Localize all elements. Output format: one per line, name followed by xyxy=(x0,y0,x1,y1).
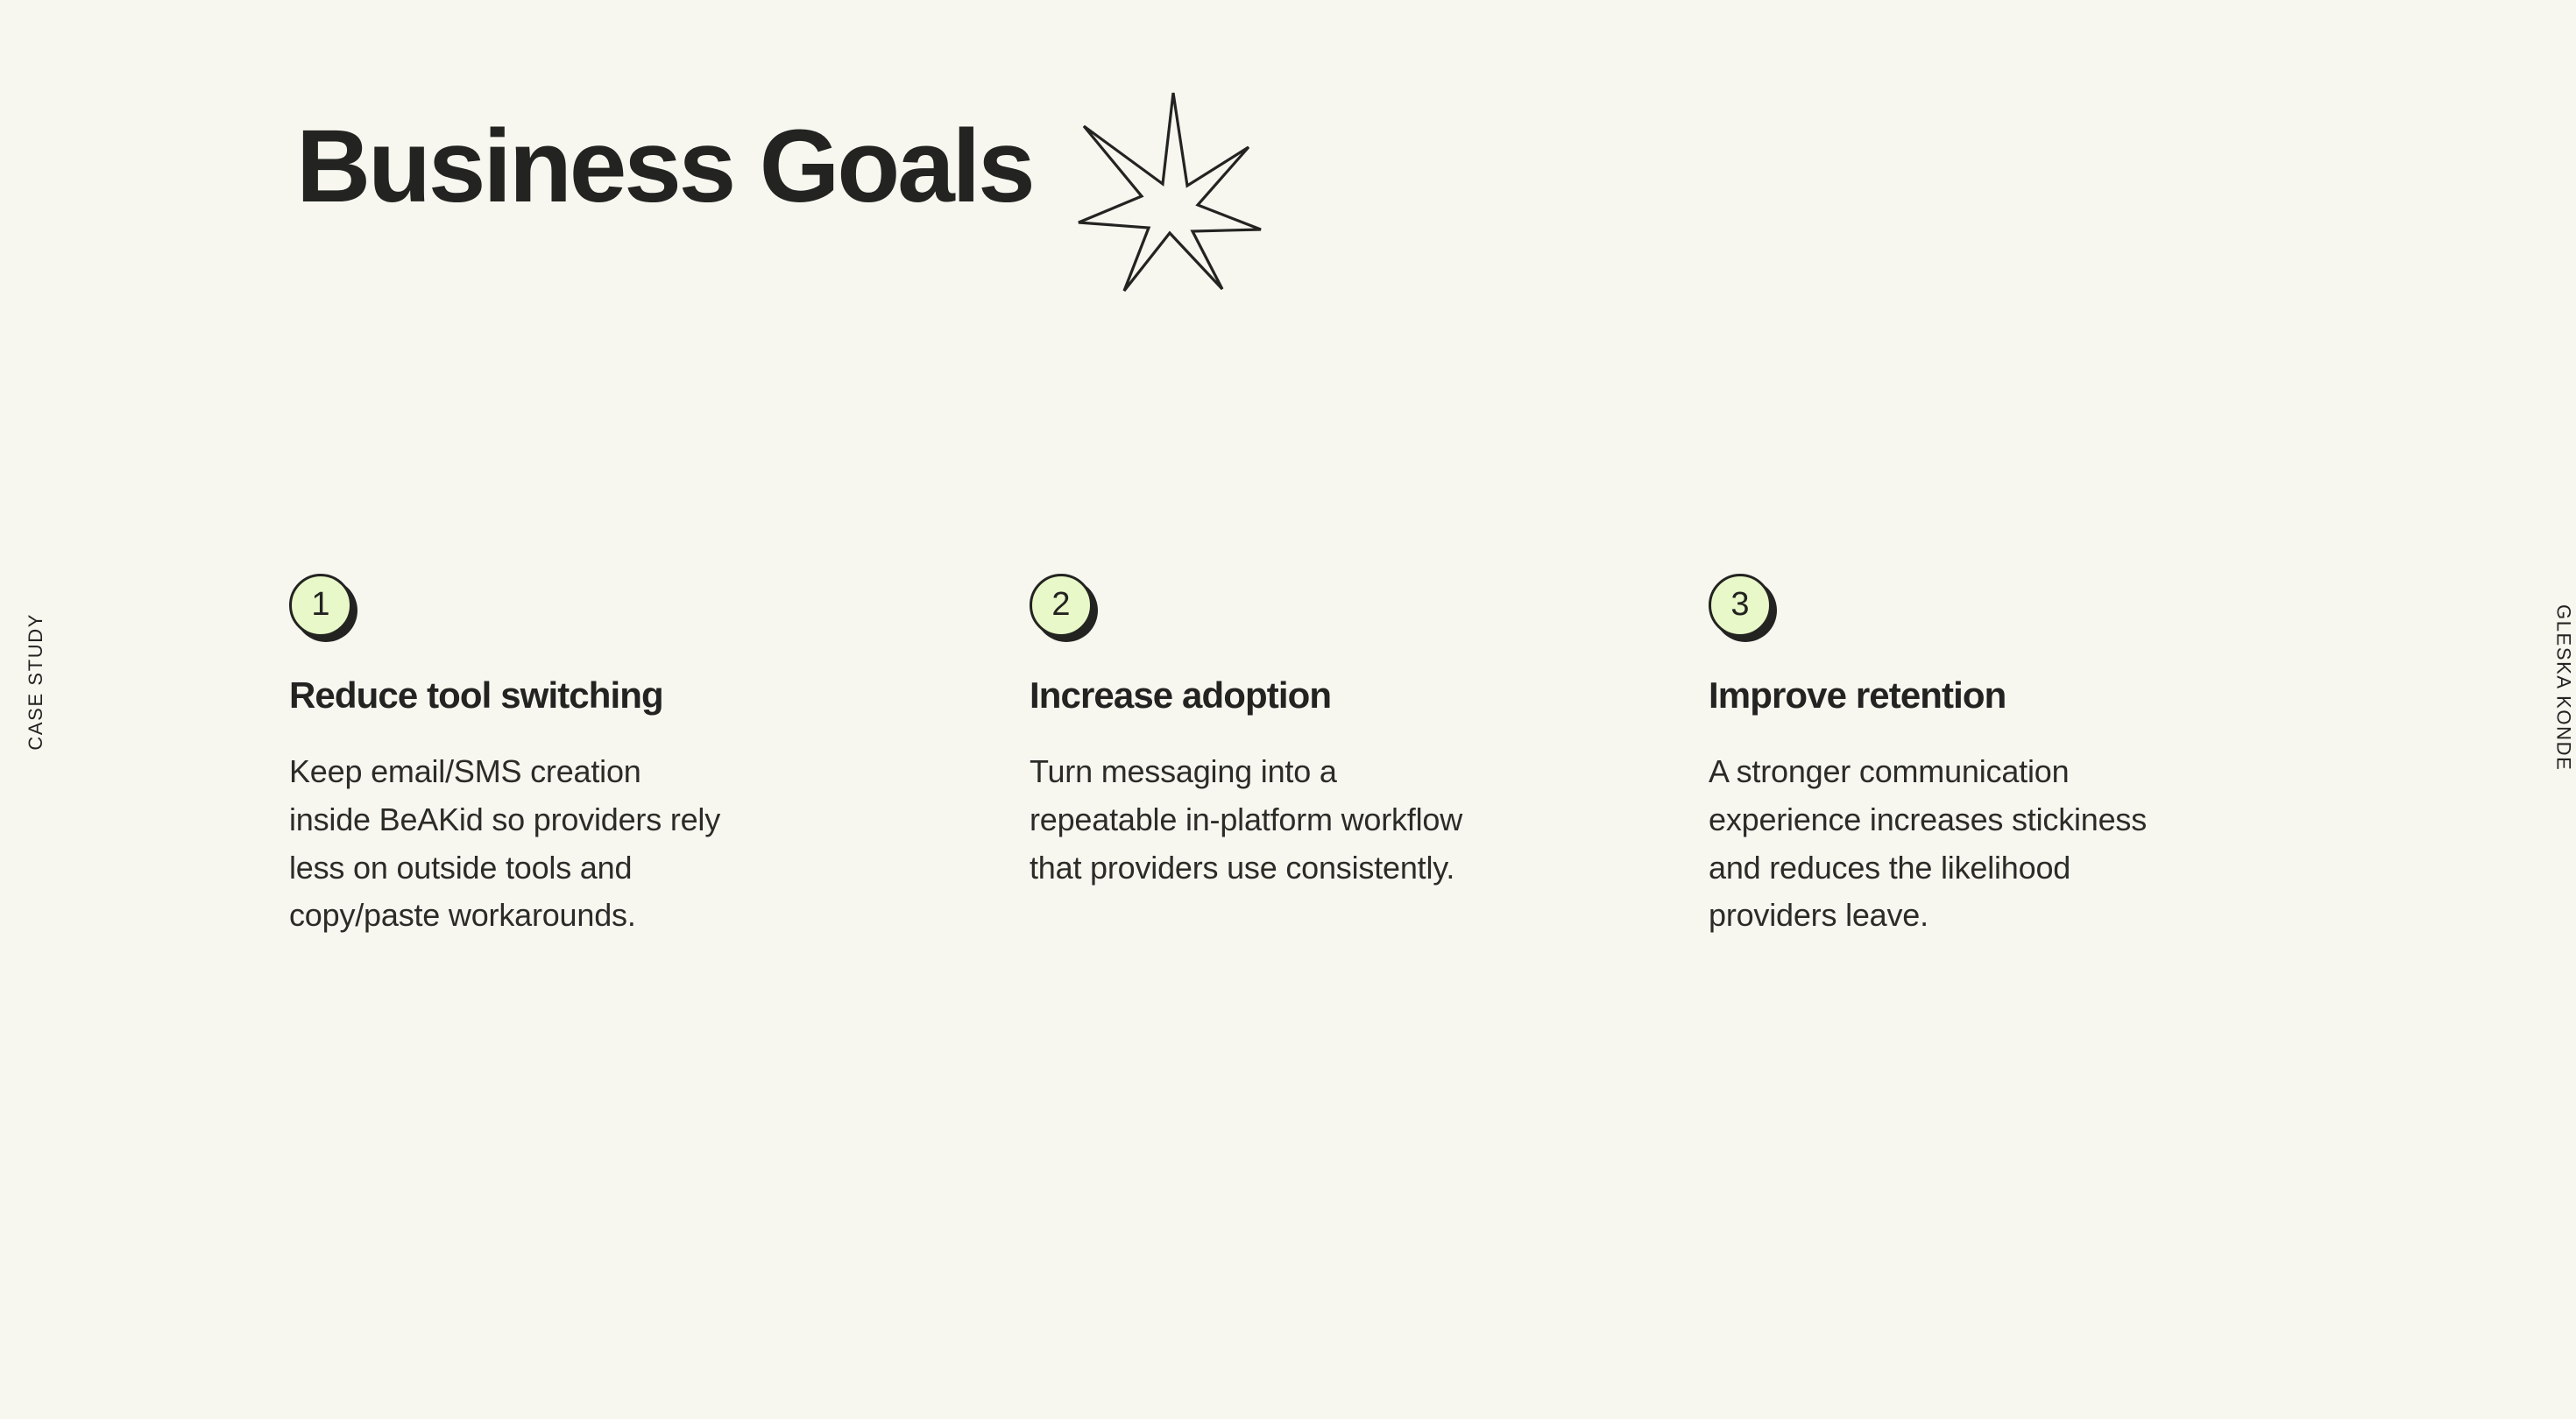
goal-title: Increase adoption xyxy=(1030,674,1415,717)
goal-description: Keep email/SMS creation inside BeAKid so… xyxy=(289,748,727,940)
brand-label: GLESKA KONDE xyxy=(2551,604,2574,771)
title-row: Business Goals xyxy=(296,114,1268,293)
goal-number-badge: 3 xyxy=(1709,574,1772,637)
badge-face: 2 xyxy=(1030,574,1093,637)
badge-number: 2 xyxy=(1051,588,1070,621)
goal-number-badge: 1 xyxy=(289,574,352,637)
goal-item: 2 Increase adoption Turn messaging into … xyxy=(1030,574,1643,892)
page-title: Business Goals xyxy=(296,114,1033,219)
case-study-label: CASE STUDY xyxy=(25,613,47,751)
slide-root: CASE STUDY GLESKA KONDE Business Goals 1… xyxy=(0,0,2576,1419)
badge-face: 1 xyxy=(289,574,352,637)
goal-item: 3 Improve retention A stronger communica… xyxy=(1709,574,2322,940)
goal-description: Turn messaging into a repeatable in-plat… xyxy=(1030,748,1468,892)
badge-number: 3 xyxy=(1730,588,1749,621)
goal-number-badge: 2 xyxy=(1030,574,1093,637)
seven-point-star-icon xyxy=(1066,82,1268,293)
badge-face: 3 xyxy=(1709,574,1772,637)
goal-item: 1 Reduce tool switching Keep email/SMS c… xyxy=(289,574,902,940)
goal-title: Improve retention xyxy=(1709,674,2094,717)
goals-list: 1 Reduce tool switching Keep email/SMS c… xyxy=(289,574,2304,940)
goal-title: Reduce tool switching xyxy=(289,674,675,717)
goal-description: A stronger communication experience incr… xyxy=(1709,748,2182,940)
badge-number: 1 xyxy=(311,588,329,621)
